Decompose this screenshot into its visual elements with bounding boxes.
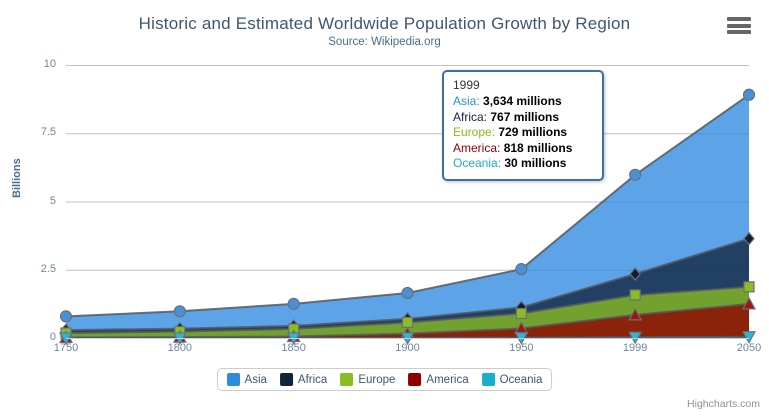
legend-item-asia[interactable]: Asia <box>227 373 267 386</box>
legend-swatch-icon <box>340 373 353 386</box>
tooltip-row-america: America: 818 millions <box>453 141 593 157</box>
legend-item-africa[interactable]: Africa <box>280 373 327 386</box>
y-axis-tick-label: 7.5 <box>12 126 56 138</box>
legend-swatch-icon <box>227 373 240 386</box>
x-axis-tick-label: 1750 <box>36 342 96 354</box>
legend-item-america[interactable]: America <box>408 373 468 386</box>
y-axis-title: Billions <box>11 158 23 198</box>
tooltip-series-name: Oceania: <box>453 156 504 170</box>
marker-europe[interactable] <box>744 282 754 292</box>
legend-label: Oceania <box>500 374 543 386</box>
legend-item-oceania[interactable]: Oceania <box>482 373 543 386</box>
highcharts-container: Historic and Estimated Worldwide Populat… <box>0 0 769 416</box>
x-axis-tick-label: 1850 <box>264 342 324 354</box>
tooltip-header: 1999 <box>453 78 593 92</box>
legend-swatch-icon <box>408 373 421 386</box>
x-axis-tick-label: 1900 <box>378 342 438 354</box>
tooltip-rows: Asia: 3,634 millionsAfrica: 767 millions… <box>453 94 593 172</box>
tooltip-row-africa: Africa: 767 millions <box>453 110 593 126</box>
legend-swatch-icon <box>280 373 293 386</box>
marker-europe[interactable] <box>403 317 413 327</box>
y-axis-tick-label: 2.5 <box>12 263 56 275</box>
marker-asia[interactable] <box>61 311 72 322</box>
marker-asia[interactable] <box>402 287 413 298</box>
tooltip-row-europe: Europe: 729 millions <box>453 125 593 141</box>
marker-asia[interactable] <box>516 264 527 275</box>
tooltip-series-value: 729 millions <box>498 125 567 139</box>
tooltip-row-asia: Asia: 3,634 millions <box>453 94 593 110</box>
legend-label: Europe <box>358 374 395 386</box>
legend-item-europe[interactable]: Europe <box>340 373 395 386</box>
chart-legend[interactable]: AsiaAfricaEuropeAmericaOceania <box>217 368 553 391</box>
legend-label: America <box>426 374 468 386</box>
y-axis-tick-label: 5 <box>12 195 56 207</box>
x-axis-tick-label: 1999 <box>605 342 665 354</box>
tooltip-series-value: 30 millions <box>504 156 566 170</box>
tooltip-row-oceania: Oceania: 30 millions <box>453 156 593 172</box>
x-axis-tick-label: 1800 <box>150 342 210 354</box>
y-axis-tick-label: 10 <box>12 58 56 70</box>
x-axis-tick-label: 1950 <box>491 342 551 354</box>
marker-europe[interactable] <box>630 290 640 300</box>
marker-asia[interactable] <box>288 298 299 309</box>
legend-label: Africa <box>298 374 327 386</box>
tooltip-series-value: 818 millions <box>504 141 573 155</box>
marker-europe[interactable] <box>516 308 526 318</box>
tooltip-series-name: Asia: <box>453 94 483 108</box>
legend-label: Asia <box>245 374 267 386</box>
tooltip-series-name: America: <box>453 141 504 155</box>
x-axis-tick-label: 2050 <box>719 342 769 354</box>
legend-swatch-icon <box>482 373 495 386</box>
highcharts-credit[interactable]: Highcharts.com <box>687 398 760 410</box>
marker-asia[interactable] <box>630 169 641 180</box>
marker-asia[interactable] <box>744 89 755 100</box>
tooltip: 1999 Asia: 3,634 millionsAfrica: 767 mil… <box>442 70 604 181</box>
tooltip-series-name: Europe: <box>453 125 498 139</box>
tooltip-series-name: Africa: <box>453 110 490 124</box>
series-areas <box>66 95 749 338</box>
tooltip-series-value: 3,634 millions <box>483 94 562 108</box>
tooltip-series-value: 767 millions <box>490 110 559 124</box>
marker-asia[interactable] <box>174 306 185 317</box>
